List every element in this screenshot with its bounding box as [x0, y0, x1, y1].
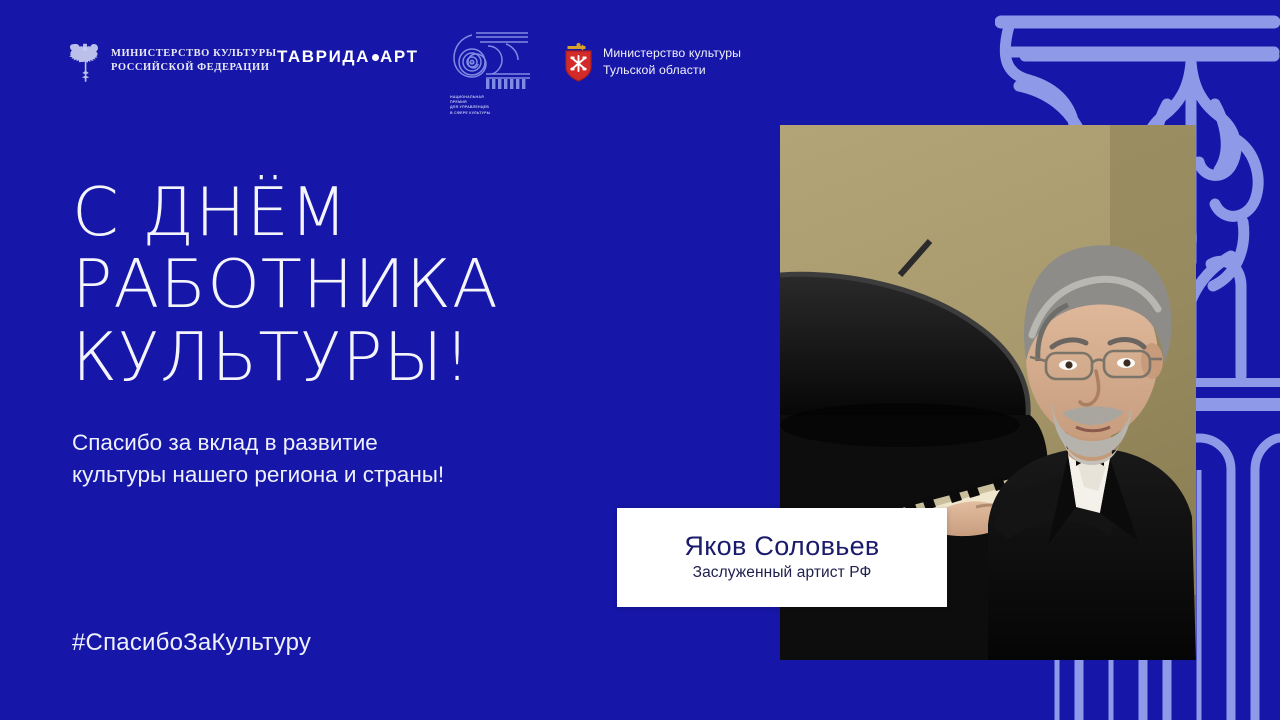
logo-tavrida-art: ТАВРИДА АРТ [277, 47, 419, 67]
dot-separator-icon [372, 54, 379, 61]
logo-national-prize: НАЦИОНАЛЬНАЯ ПРЕМИЯ ДЛЯ УПРАВЛЕНЦЕВ В СФ… [450, 28, 532, 116]
logo-ministry-of-culture-rf: МИНИСТЕРСТВО КУЛЬТУРЫ РОССИЙСКОЙ ФЕДЕРАЦ… [68, 40, 277, 82]
poster-canvas: МИНИСТЕРСТВО КУЛЬТУРЫ РОССИЙСКОЙ ФЕДЕРАЦ… [0, 0, 1280, 720]
logo-ministry-tula-label: Министерство культуры Тульской области [603, 45, 741, 78]
name-card: Яков Соловьев Заслуженный артист РФ [617, 508, 947, 607]
logo-ministry-rf-label: МИНИСТЕРСТВО КУЛЬТУРЫ РОССИЙСКОЙ ФЕДЕРАЦ… [111, 47, 277, 75]
headline: С ДНЁМ РАБОТНИКА КУЛЬТУРЫ! [72, 176, 712, 393]
tula-region-coat-of-arms-icon [563, 41, 594, 82]
person-name: Яков Соловьев [684, 532, 879, 562]
logo-bar: МИНИСТЕРСТВО КУЛЬТУРЫ РОССИЙСКОЙ ФЕДЕРАЦ… [0, 0, 840, 120]
national-prize-caption: НАЦИОНАЛЬНАЯ ПРЕМИЯ ДЛЯ УПРАВЛЕНЦЕВ В СФ… [450, 95, 526, 116]
tavrida-word-left: ТАВРИДА [277, 47, 370, 67]
hashtag: #СпасибоЗаКультуру [72, 629, 311, 657]
logo-ministry-of-culture-tula: Министерство культуры Тульской области [563, 41, 741, 82]
tavrida-word-right: АРТ [380, 47, 419, 67]
person-title: Заслуженный артист РФ [693, 564, 872, 583]
tavrida-wordmark: ТАВРИДА АРТ [277, 47, 419, 67]
ionic-column-capital-icon [450, 28, 532, 92]
subtitle: Спасибо за вклад в развитие культуры наш… [72, 427, 592, 491]
double-headed-eagle-emblem-icon [68, 40, 102, 82]
